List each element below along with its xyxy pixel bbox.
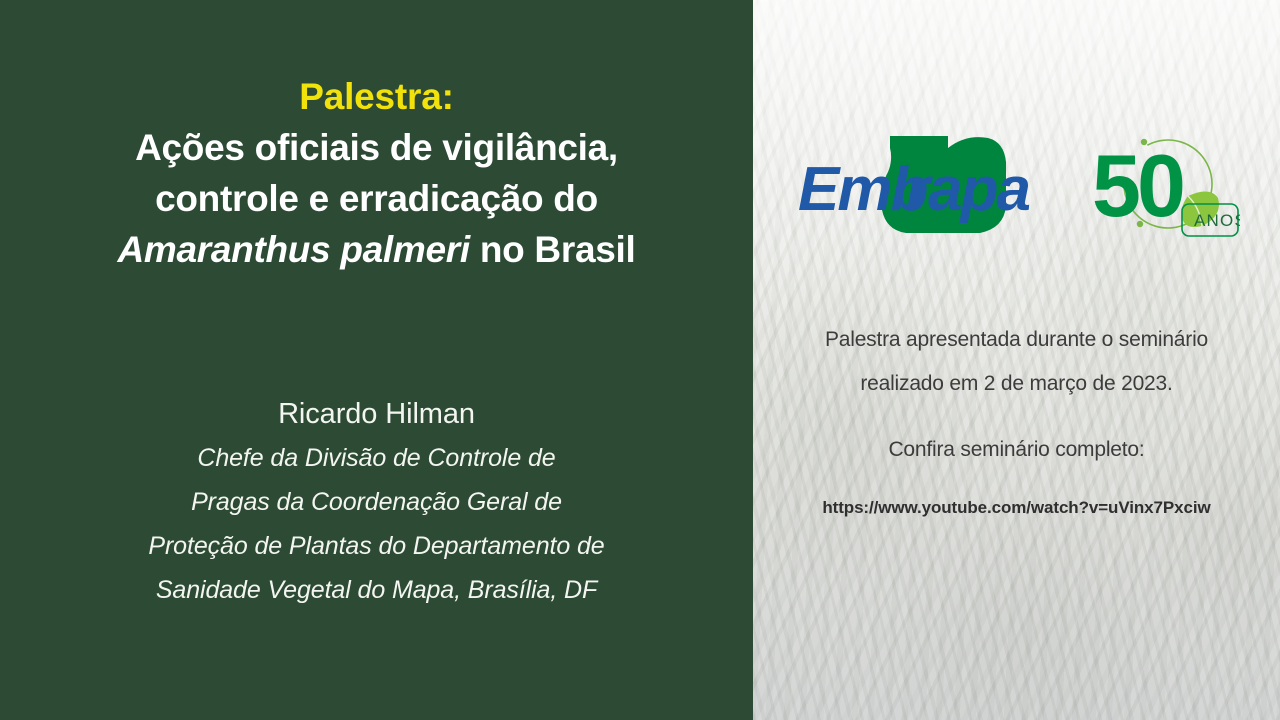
right-panel: Emb rapa 50 ANOS Palestra apresentada d xyxy=(753,0,1280,720)
title-line-3: Amaranthus palmeri no Brasil xyxy=(0,224,753,275)
embrapa-wordmark-text-2: rapa xyxy=(906,155,1029,224)
author-name: Ricardo Hilman xyxy=(0,392,753,436)
embrapa-logo: Emb rapa 50 ANOS xyxy=(798,132,1238,244)
author-role-line-2: Pragas da Coordenação Geral de xyxy=(0,480,753,524)
title-line-2: controle e erradicação do xyxy=(0,173,753,224)
left-panel: Palestra: Ações oficiais de vigilância, … xyxy=(0,0,753,720)
species-name-italic: Amaranthus palmeri xyxy=(118,229,470,270)
author-block: Ricardo Hilman Chefe da Divisão de Contr… xyxy=(0,392,753,612)
seminar-cta-line: Confira seminário completo: xyxy=(753,428,1280,472)
presentation-slide: Palestra: Ações oficiais de vigilância, … xyxy=(0,0,1280,720)
anniversary-number-text: 50 xyxy=(1092,136,1183,235)
palestra-eyebrow-label: Palestra: xyxy=(0,72,753,122)
seminar-info-block: Palestra apresentada durante o seminário… xyxy=(753,318,1280,522)
title-block: Palestra: Ações oficiais de vigilância, … xyxy=(0,72,753,275)
seminar-video-url[interactable]: https://www.youtube.com/watch?v=uVinx7Px… xyxy=(753,494,1280,522)
author-role-line-4: Sanidade Vegetal do Mapa, Brasília, DF xyxy=(0,568,753,612)
seminar-info-line-2: realizado em 2 de março de 2023. xyxy=(753,362,1280,406)
seminar-info-line-1: Palestra apresentada durante o seminário xyxy=(753,318,1280,362)
embrapa-wordmark-icon: Emb rapa xyxy=(798,132,1088,244)
info-spacer xyxy=(753,406,1280,428)
author-role-line-1: Chefe da Divisão de Controle de xyxy=(0,436,753,480)
anos-label-text: ANOS xyxy=(1194,211,1240,230)
author-role-line-3: Proteção de Plantas do Departamento de xyxy=(0,524,753,568)
embrapa-50-anos-icon: 50 ANOS xyxy=(1090,134,1240,242)
title-line-3-tail: no Brasil xyxy=(470,229,636,270)
info-spacer-2 xyxy=(753,472,1280,494)
title-line-1: Ações oficiais de vigilância, xyxy=(0,122,753,173)
